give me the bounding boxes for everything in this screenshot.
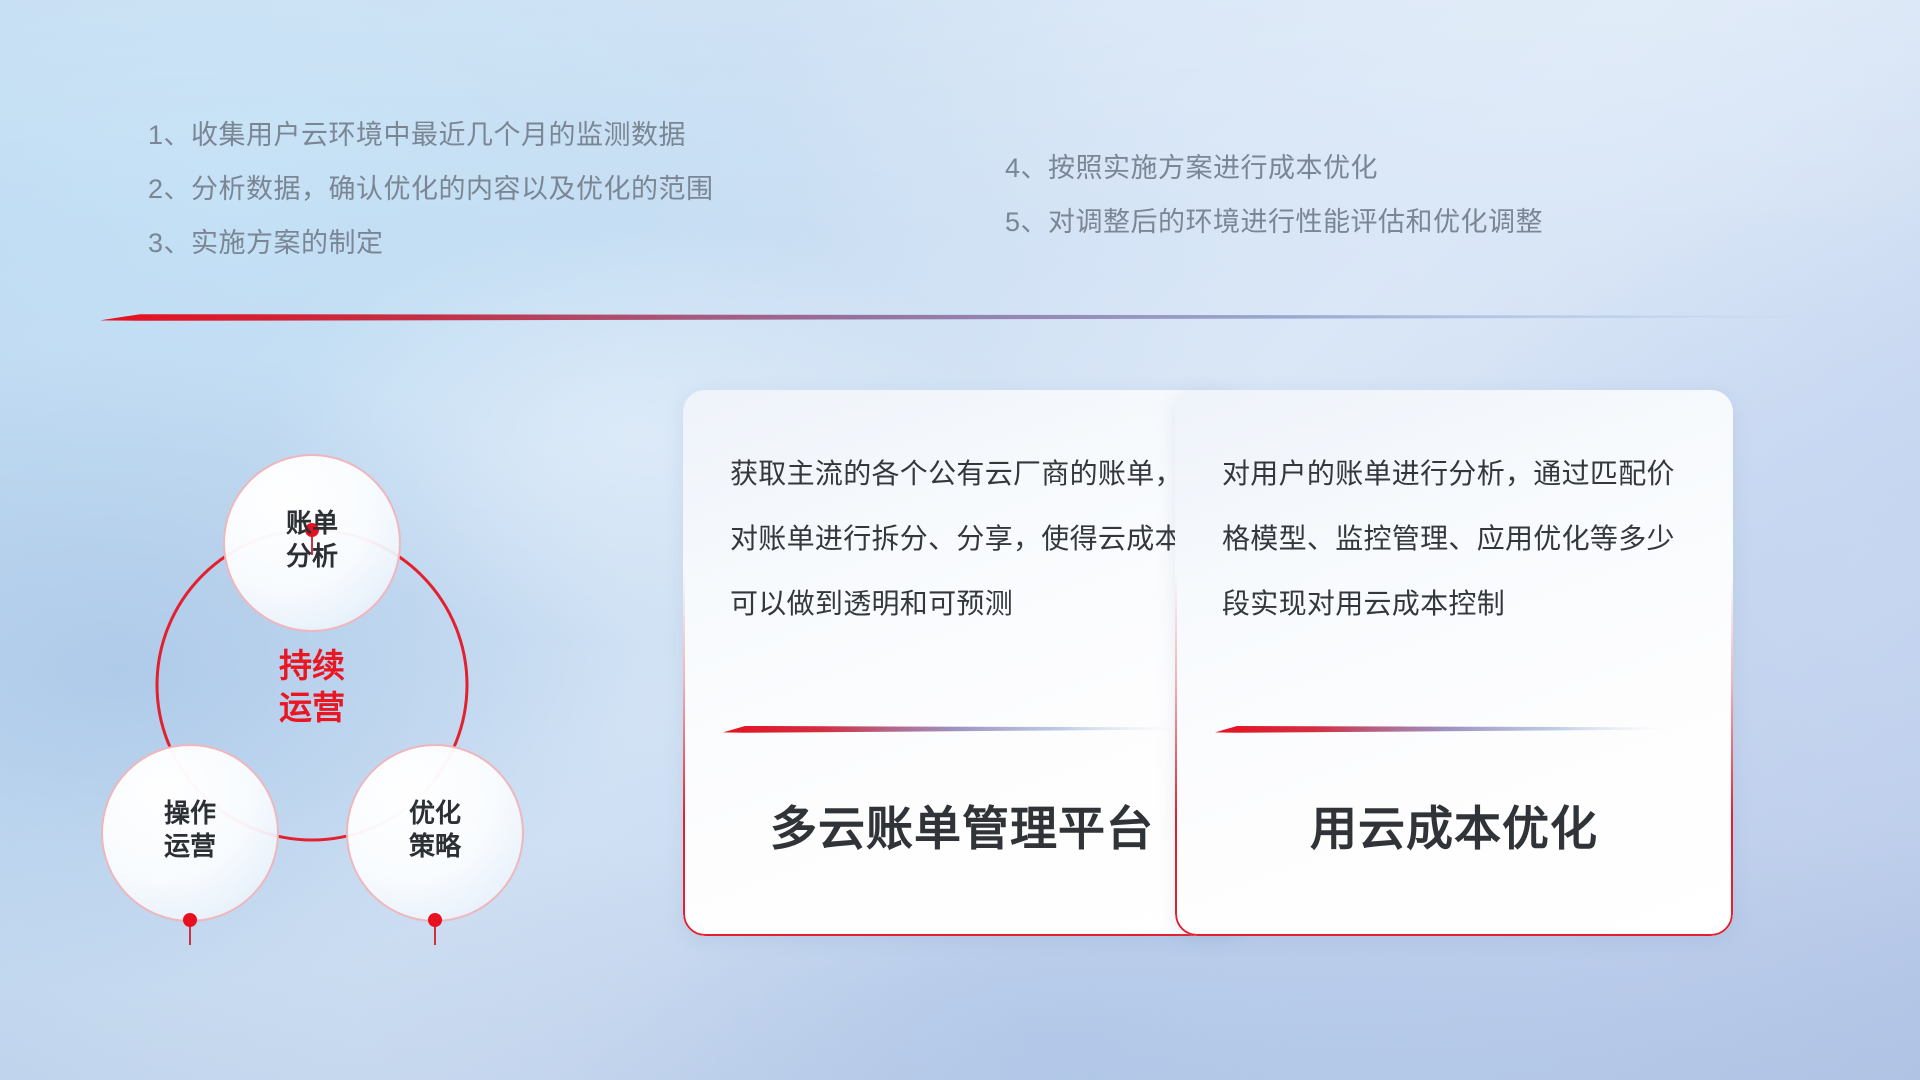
step-item-5: 5、对调整后的环境进行性能评估和优化调整 xyxy=(1005,209,1543,236)
card-body-text: 获取主流的各个公有云厂商的账单，对账单进行拆分、分享，使得云成本可以做到透明和可… xyxy=(730,442,1203,637)
node-marker-optimization xyxy=(428,913,442,945)
feature-card-multi-cloud-billing-platform[interactable]: 获取主流的各个公有云厂商的账单，对账单进行拆分、分享，使得云成本可以做到透明和可… xyxy=(683,390,1241,936)
card-title: 多云账单管理平台 xyxy=(683,790,1241,859)
steps-list-left: 1、收集用户云环境中最近几个月的监测数据 2、分析数据，确认优化的内容以及优化的… xyxy=(148,122,714,284)
slide-canvas: 1、收集用户云环境中最近几个月的监测数据 2、分析数据，确认优化的内容以及优化的… xyxy=(0,0,1920,1080)
header-divider xyxy=(100,312,1812,321)
steps-list-right: 4、按照实施方案进行成本优化 5、对调整后的环境进行性能评估和优化调整 xyxy=(1005,155,1543,263)
diagram-svg xyxy=(100,355,660,945)
step-item-1: 1、收集用户云环境中最近几个月的监测数据 xyxy=(148,122,714,149)
node-marker-operations xyxy=(183,913,197,945)
step-item-4: 4、按照实施方案进行成本优化 xyxy=(1005,155,1543,182)
feature-card-cloud-cost-optimization[interactable]: 对用户的账单进行分析，通过匹配价格模型、监控管理、应用优化等多少段实现对用云成本… xyxy=(1175,390,1733,936)
step-item-2: 2、分析数据，确认优化的内容以及优化的范围 xyxy=(148,176,714,203)
card-divider xyxy=(1215,724,1670,733)
card-body-text: 对用户的账单进行分析，通过匹配价格模型、监控管理、应用优化等多少段实现对用云成本… xyxy=(1222,442,1695,637)
bubble-optimization xyxy=(347,745,523,921)
card-title: 用云成本优化 xyxy=(1175,790,1733,859)
card-divider xyxy=(723,724,1178,733)
step-item-3: 3、实施方案的制定 xyxy=(148,230,714,257)
bubble-operations xyxy=(102,745,278,921)
continuous-operations-diagram: 账单 分析 操作 运营 优化 策略 持续 运营 xyxy=(100,355,660,945)
